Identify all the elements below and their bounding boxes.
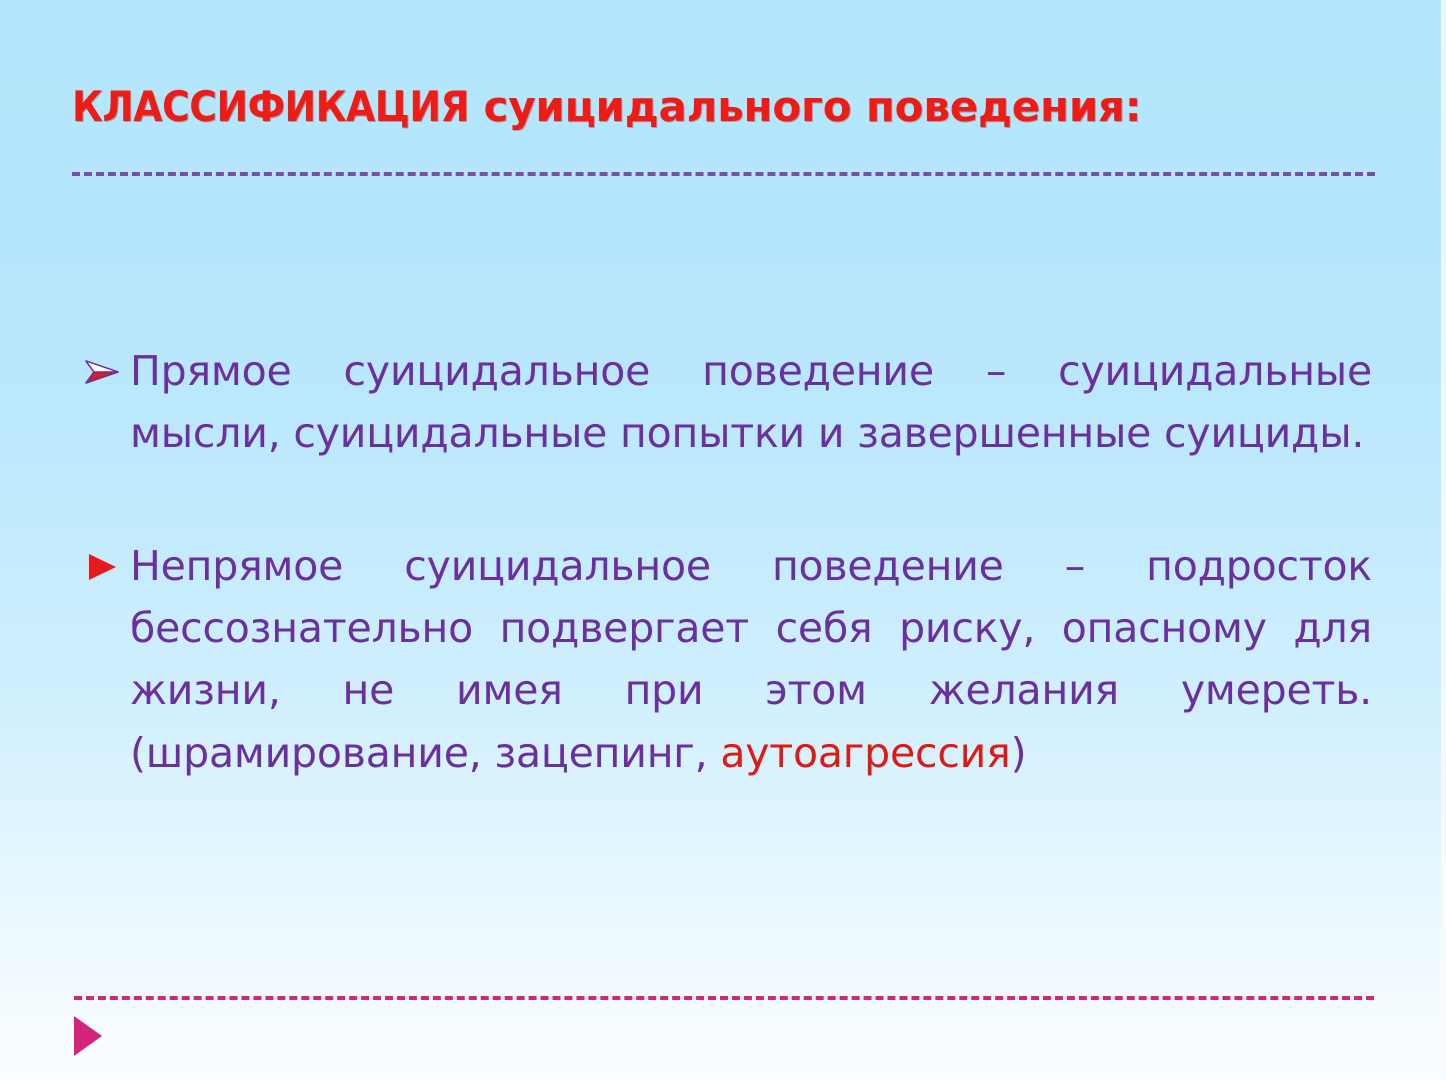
page-title: КЛАССИФИКАЦИЯ суицидального поведения: xyxy=(72,86,1382,128)
presentation-slide: КЛАССИФИКАЦИЯ суицидального поведения: П… xyxy=(0,0,1446,1080)
triangle-right-icon xyxy=(82,547,122,587)
list-item: Непрямое суицидальное поведение – подрос… xyxy=(72,535,1372,784)
list-item-text-tail: ) xyxy=(1011,729,1027,777)
slide-title: КЛАССИФИКАЦИЯ суицидального поведения: xyxy=(72,86,1382,128)
slide-body: Прямое суицидальное поведение – суицидал… xyxy=(72,340,1372,838)
list-item-text-accent: аутоагрессия xyxy=(720,729,1010,777)
triangle-right-icon xyxy=(70,1010,108,1062)
title-emphasis: КЛАССИФИКАЦИЯ xyxy=(72,82,469,131)
title-divider-top xyxy=(72,172,1375,176)
arrowhead-outline-icon xyxy=(82,352,122,392)
list-item: Прямое суицидальное поведение – суицидал… xyxy=(72,340,1372,465)
list-item-text: Непрямое суицидальное поведение – подрос… xyxy=(130,535,1372,784)
title-rest: суицидального поведения: xyxy=(469,82,1141,131)
footer-divider-bottom xyxy=(74,996,1374,1000)
list-item-text: Прямое суицидальное поведение – суицидал… xyxy=(130,340,1372,465)
